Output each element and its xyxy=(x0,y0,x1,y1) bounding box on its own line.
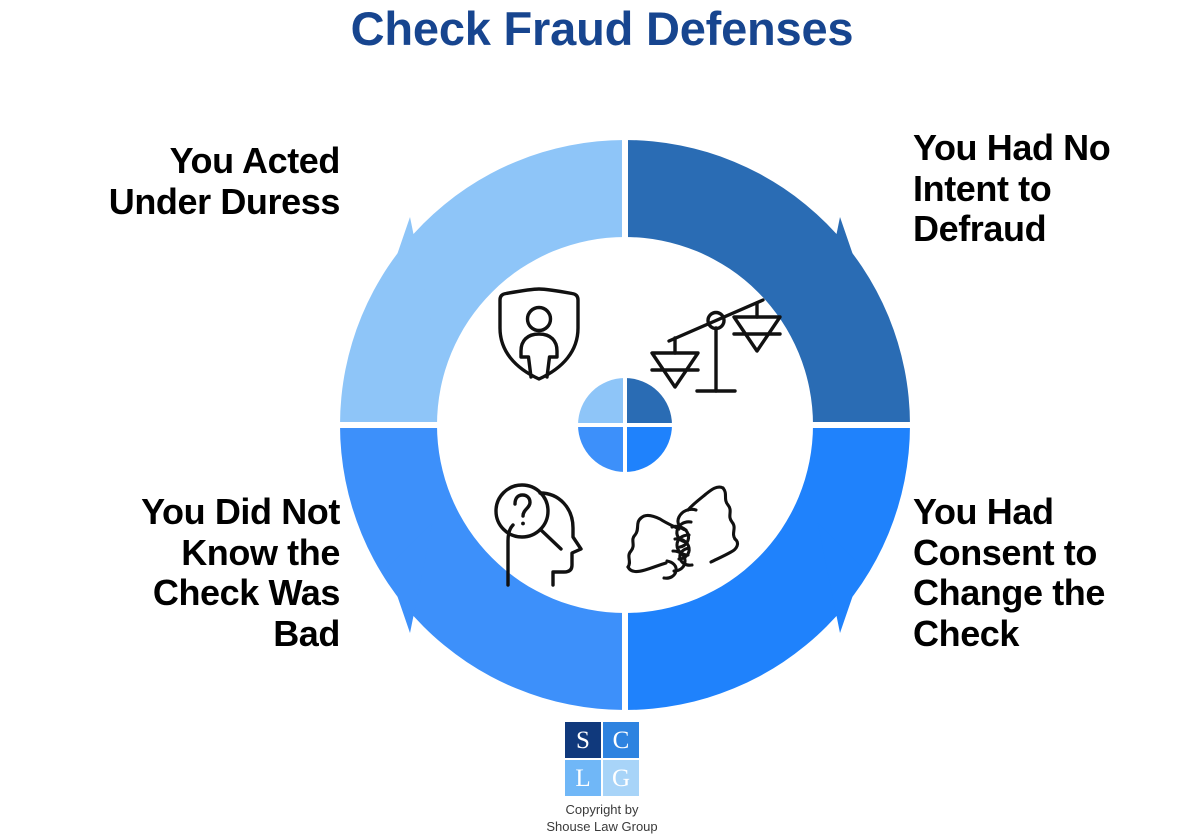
copyright-line-1: Copyright by xyxy=(0,801,1204,818)
label-line: Check xyxy=(913,614,1198,655)
label-line: You Did Not xyxy=(10,492,340,533)
footer: S C L G Copyright by Shouse Law Group xyxy=(0,722,1204,836)
hub-top-left xyxy=(578,378,625,425)
quadrant-bottom-right[interactable] xyxy=(625,425,910,710)
label-had-consent-to-change-check[interactable]: You Had Consent to Change the Check xyxy=(913,492,1198,655)
logo-cell-s: S xyxy=(565,722,601,758)
page-title: Check Fraud Defenses xyxy=(0,2,1204,56)
label-line: Bad xyxy=(10,614,340,655)
label-line: Consent to xyxy=(913,533,1198,574)
hub-top-right xyxy=(625,378,672,425)
label-line: Know the xyxy=(10,533,340,574)
logo-cell-g: G xyxy=(603,760,639,796)
hub-bottom-right xyxy=(625,425,672,472)
label-line: Check Was xyxy=(10,573,340,614)
label-line: Intent to xyxy=(913,169,1198,210)
label-you-acted-under-duress[interactable]: You Acted Under Duress xyxy=(10,141,340,222)
quadrant-bottom-left[interactable] xyxy=(340,425,625,710)
shield-person-icon xyxy=(500,289,578,379)
scales-of-justice-icon xyxy=(652,300,780,391)
quadrant-top-right[interactable] xyxy=(625,140,910,425)
label-line: You Acted xyxy=(10,141,340,182)
shouse-law-group-logo[interactable]: S C L G xyxy=(565,722,639,796)
head-question-magnifier-icon xyxy=(496,485,581,585)
quadrant-top-left-arc xyxy=(340,140,625,425)
label-line: You Had No xyxy=(913,128,1198,169)
center-hub xyxy=(576,376,674,474)
copyright-notice: Copyright by Shouse Law Group xyxy=(0,801,1204,836)
label-did-not-know-check-was-bad[interactable]: You Did Not Know the Check Was Bad xyxy=(10,492,340,655)
hub-bottom-left xyxy=(578,425,625,472)
quadrant-bottom-right-arc xyxy=(625,425,910,710)
logo-cell-c: C xyxy=(603,722,639,758)
label-line: Under Duress xyxy=(10,182,340,223)
quadrant-bottom-left-arc xyxy=(340,425,625,710)
quadrant-top-right-arc xyxy=(625,140,910,425)
handshake-icon xyxy=(628,487,738,578)
quadrant-top-left[interactable] xyxy=(340,140,625,425)
logo-cell-l: L xyxy=(565,760,601,796)
label-line: Change the xyxy=(913,573,1198,614)
label-line: Defraud xyxy=(913,209,1198,250)
cycle-diagram xyxy=(325,125,925,725)
label-no-intent-to-defraud[interactable]: You Had No Intent to Defraud xyxy=(913,128,1198,250)
label-line: You Had xyxy=(913,492,1198,533)
